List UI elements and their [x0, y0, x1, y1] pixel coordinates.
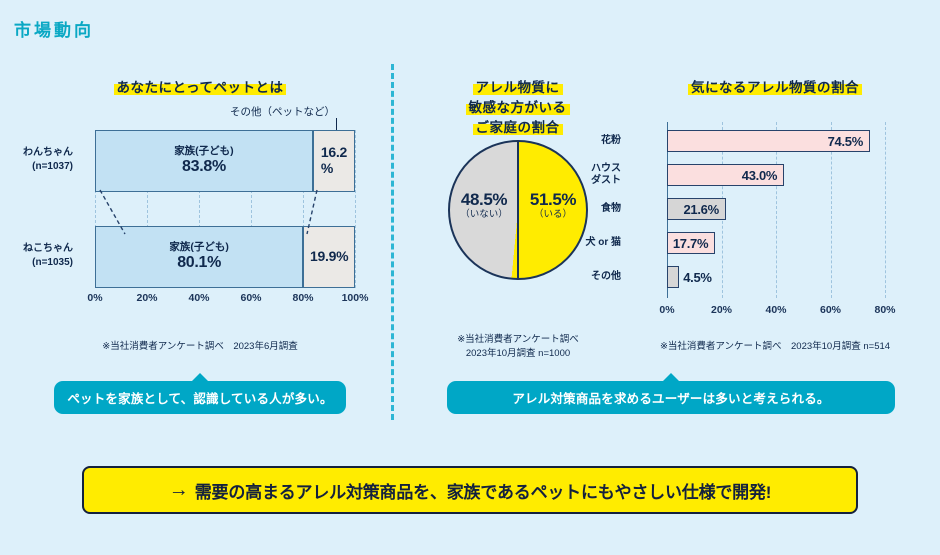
chart-3-x-tick: 40%	[765, 304, 786, 316]
chart-3-bar: 4.5%	[667, 266, 679, 288]
chart-3-x-tick: 20%	[711, 304, 732, 316]
chart-1-category-label: ねこちゃん(n=1035)	[23, 242, 73, 270]
chart-1-x-tick: 100%	[342, 292, 369, 304]
chart-3-x-axis: 0%20%40%60%80%	[667, 304, 885, 320]
arrow-right-icon: →	[169, 480, 189, 500]
chart-3-title: 気になるアレル物質の割合	[625, 78, 925, 98]
chart-1-segment-other-value: 16.2%	[321, 145, 347, 176]
callout-right: アレル対策商品を求めるユーザーは多いと考えられる。	[447, 381, 895, 414]
callout-right-notch	[662, 373, 680, 382]
chart-1-x-tick: 60%	[240, 292, 261, 304]
chart-3-bar: 43.0%	[667, 164, 784, 186]
callout-left-text: ペットを家族として、認識している人が多い。	[67, 388, 332, 407]
chart-allergen-household: アレル物質に 敏感な方がいる ご家庭の割合 51.5% （いる） 48.5% （…	[430, 78, 605, 328]
chart-3-title-text: 気になるアレル物質の割合	[688, 80, 862, 95]
source-note-1: ※当社消費者アンケート調べ 2023年6月調査	[30, 340, 370, 354]
chart-3-category-label: ハウスダスト	[591, 163, 621, 187]
chart-3-category-label: 花粉	[601, 135, 621, 147]
chart-1-segment-other-value: 19.9%	[310, 249, 348, 265]
chart-3-bar-value: 4.5%	[683, 270, 711, 285]
chart-2-title-line-3: ご家庭の割合	[473, 120, 563, 135]
chart-2-title: アレル物質に 敏感な方がいる ご家庭の割合	[430, 78, 605, 138]
chart-1-segment-value: 83.8%	[182, 158, 226, 176]
chart-1-segment-family: 家族(子ども)83.8%	[95, 130, 313, 192]
callout-right-text: アレル対策商品を求めるユーザーは多いと考えられる。	[512, 388, 829, 407]
chart-1-annotation: その他（ペットなど）	[190, 104, 375, 119]
chart-3-category-label: その他	[591, 271, 621, 283]
chart-1-segment-other: 16.2%	[313, 130, 355, 192]
chart-3-bar: 74.5%	[667, 130, 870, 152]
chart-pet-meaning: あなたにとってペットとは その他（ペットなど） 家族(子ども)83.8%16.2…	[30, 78, 370, 328]
chart-2-title-line-1: アレル物質に	[473, 80, 563, 95]
chart-3-category-label: 犬 or 猫	[585, 237, 621, 249]
chart-concerning-allergens: 気になるアレル物質の割合 74.5%花粉43.0%ハウスダスト21.6%食物17…	[625, 78, 925, 328]
chart-1-x-tick: 80%	[292, 292, 313, 304]
conclusion-banner: → 需要の高まるアレル対策商品を、家族であるペットにもやさしい仕様で開発!	[82, 466, 858, 514]
chart-1-segment-label: 家族(子ども)	[174, 146, 234, 158]
pie-slice-label-inai: 48.5% （いない）	[452, 190, 516, 220]
pie-slice-label-iru: 51.5% （いる）	[522, 190, 584, 220]
chart-1-category-label: わんちゃん(n=1037)	[23, 146, 73, 174]
chart-1-segment-value: 80.1%	[177, 254, 221, 272]
chart-3-bar: 17.7%	[667, 232, 715, 254]
chart-1-title-text: あなたにとってペットとは	[114, 80, 287, 95]
chart-3-category-label: 食物	[601, 203, 621, 215]
infographic-root: 市場動向 あなたにとってペットとは その他（ペットなど） 家族(子ども)83.8…	[0, 0, 940, 555]
chart-3-x-tick: 80%	[874, 304, 895, 316]
conclusion-banner-text: 需要の高まるアレル対策商品を、家族であるペットにもやさしい仕様で開発!	[195, 478, 772, 503]
source-note-2: ※当社消費者アンケート調べ 2023年10月調査 n=1000	[428, 333, 608, 361]
chart-3-gridline	[885, 122, 886, 298]
chart-1-connector	[95, 188, 357, 236]
callout-left-notch	[191, 373, 209, 382]
chart-3-x-tick: 60%	[820, 304, 841, 316]
section-divider	[391, 64, 394, 420]
chart-3-bar: 21.6%	[667, 198, 726, 220]
callout-left: ペットを家族として、認識している人が多い。	[54, 381, 346, 414]
chart-1-x-tick: 0%	[87, 292, 102, 304]
chart-2-title-line-2: 敏感な方がいる	[466, 100, 570, 115]
chart-1-bar-row: 家族(子ども)83.8%16.2%	[95, 130, 355, 192]
chart-1-x-tick: 40%	[188, 292, 209, 304]
page-title: 市場動向	[14, 16, 94, 41]
pie-divider-line	[517, 140, 519, 280]
chart-1-segment-label: 家族(子ども)	[169, 242, 229, 254]
pie-chart: 51.5% （いる） 48.5% （いない）	[448, 140, 588, 280]
chart-3-plot: 74.5%花粉43.0%ハウスダスト21.6%食物17.7%犬 or 猫4.5%…	[667, 122, 885, 292]
chart-3-x-tick: 0%	[659, 304, 674, 316]
source-note-3: ※当社消費者アンケート調べ 2023年10月調査 n=514	[620, 340, 930, 354]
chart-1-title: あなたにとってペットとは	[30, 78, 370, 98]
chart-1-annotation-leader	[336, 118, 337, 130]
chart-1-x-tick: 20%	[136, 292, 157, 304]
chart-1-x-axis: 0%20%40%60%80%100%	[95, 292, 355, 308]
